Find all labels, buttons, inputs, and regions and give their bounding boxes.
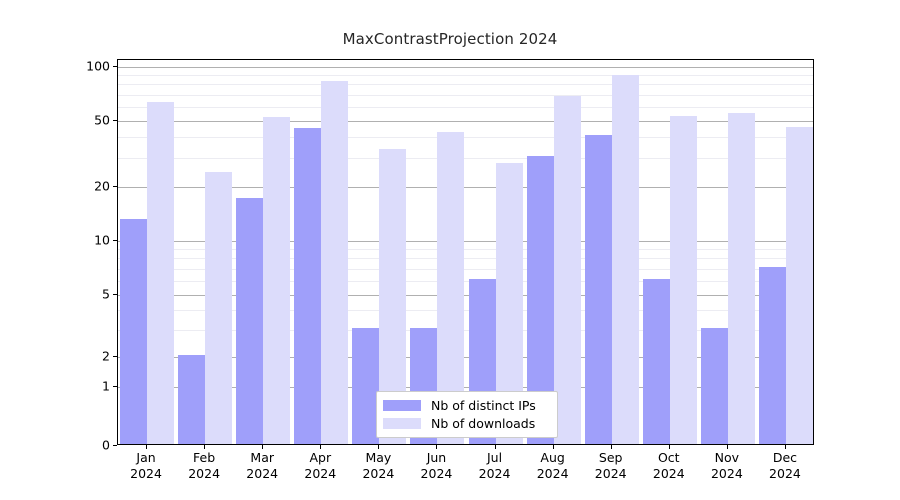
bar-feb-ips [178,355,205,444]
x-tick-mark [262,445,263,449]
x-tick-mark [495,445,496,449]
bar-mar-dls [263,117,290,444]
y-tick-label: 1 [50,379,110,394]
x-tick-month: Dec [773,450,797,465]
x-tick-month: Sep [599,450,623,465]
legend-swatch-icon [383,400,421,411]
bar-jan-dls [147,102,174,444]
y-tick-label: 20 [50,179,110,194]
x-tick-month: Apr [309,450,331,465]
y-tick-label: 100 [50,59,110,74]
x-tick-mark [669,445,670,449]
bar-oct-dls [670,116,697,444]
y-tick-label: 2 [50,349,110,364]
x-tick-mark [553,445,554,449]
bar-nov-dls [728,113,755,444]
legend-label: Nb of downloads [431,416,535,431]
chart-figure: MaxContrastProjection 2024 1005020105210… [0,0,900,500]
bar-apr-dls [321,81,348,444]
bar-nov-ips [701,328,728,444]
x-tick-mark [146,445,147,449]
bar-jan-ips [120,219,147,444]
plot-area [117,59,814,445]
x-tick-month: Oct [658,450,680,465]
x-tick-mark [611,445,612,449]
bar-sep-ips [585,135,612,444]
x-tick-month: Nov [715,450,739,465]
bar-sep-dls [612,75,639,444]
bar-feb-dls [205,172,232,444]
x-tick-mark [378,445,379,449]
x-tick-month: Jan [136,450,155,465]
bar-oct-ips [643,279,670,444]
bar-dec-dls [786,127,813,444]
x-tick-mark [785,445,786,449]
y-tick-mark [113,445,117,446]
x-tick-month: May [365,450,391,465]
x-tick-month: Feb [193,450,215,465]
x-tick-month: Aug [540,450,564,465]
x-tick-mark [727,445,728,449]
bars-layer [118,60,813,444]
x-tick-mark [204,445,205,449]
bar-apr-ips [294,128,321,444]
chart-title: MaxContrastProjection 2024 [0,30,900,48]
chart-legend: Nb of distinct IPsNb of downloads [376,391,558,438]
legend-item-0[interactable]: Nb of distinct IPs [383,396,551,414]
bar-mar-ips [236,198,263,444]
y-tick-label: 10 [50,233,110,248]
y-tick-label: 50 [50,113,110,128]
y-tick-label: 5 [50,287,110,302]
x-tick-month: Jul [487,450,502,465]
legend-item-1[interactable]: Nb of downloads [383,414,551,432]
bar-dec-ips [759,267,786,444]
x-tick-month: Mar [250,450,274,465]
legend-label: Nb of distinct IPs [431,398,536,413]
x-tick-month: Jun [427,450,447,465]
x-tick-mark [320,445,321,449]
x-tick-label-dec: Dec2024 [745,450,825,482]
y-tick-label: 0 [50,438,110,453]
x-tick-mark [436,445,437,449]
x-tick-year: 2024 [745,466,825,482]
legend-swatch-icon [383,418,421,429]
